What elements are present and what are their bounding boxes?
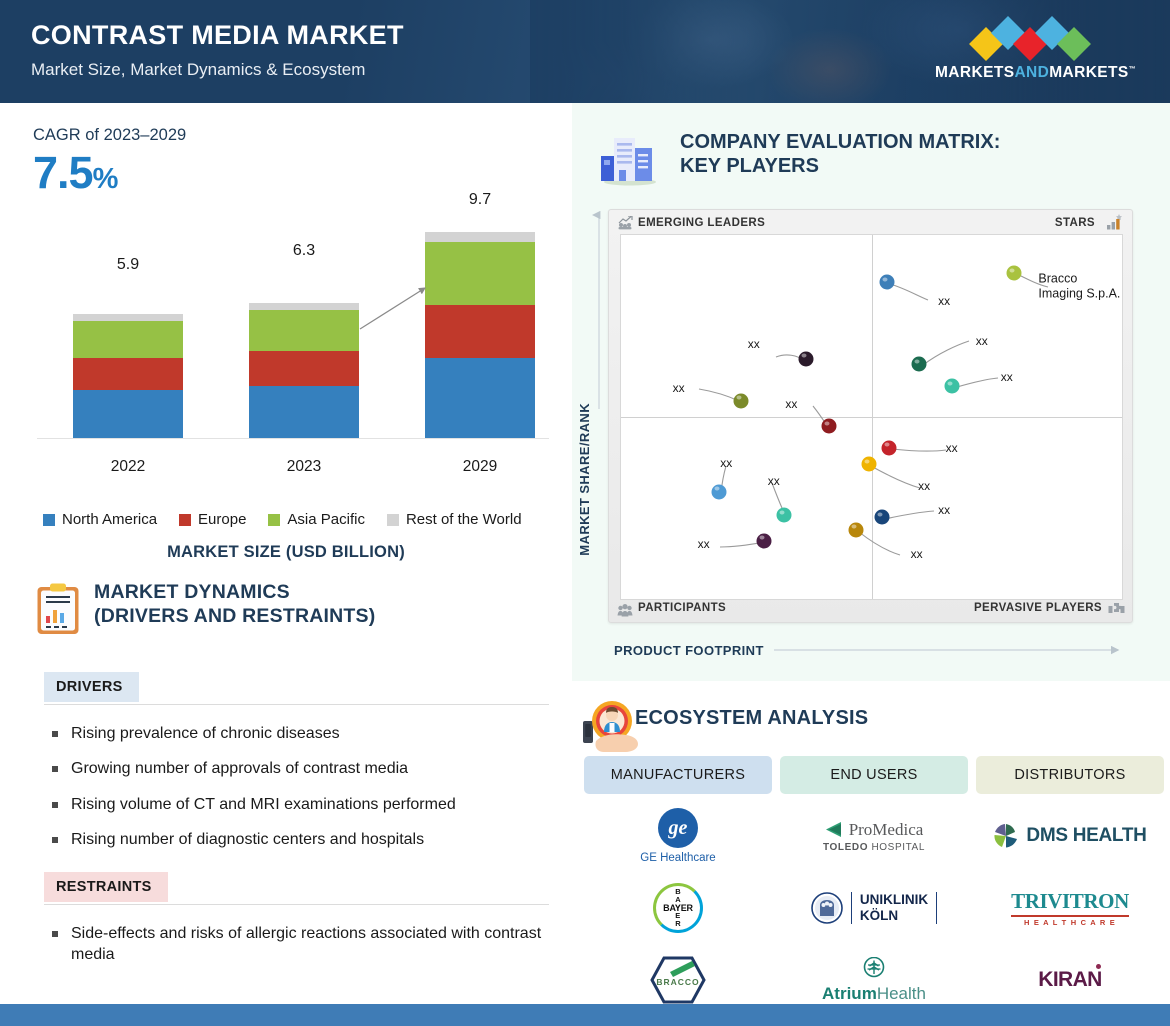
page-header: CONTRAST MEDIA MARKET Market Size, Marke… [0, 0, 1170, 103]
ecosystem-columns: MANUFACTURERS ge GE Healthcare BAYER BAY… [584, 756, 1164, 1008]
distributor-logos: DMS HEALTH TRIVITRON H E A L T H C A R E… [976, 808, 1164, 1008]
logo-word-markets-2: MARKETS [1049, 64, 1128, 81]
legend-swatch-north-america [43, 514, 55, 526]
bar-stack-2029 [425, 232, 535, 438]
driver-text: Growing number of approvals of contrast … [71, 758, 408, 779]
uniklinik-seal-icon [811, 892, 843, 924]
restraints-list: Side-effects and risks of allergic react… [52, 923, 562, 980]
matrix-title-line2: KEY PLAYERS [680, 154, 1000, 178]
kiran-dot-icon [1096, 964, 1101, 969]
uniklinik-line1: UNIKLINIK [860, 892, 928, 908]
matrix-point[interactable] [734, 393, 749, 408]
segment-europe [73, 358, 183, 390]
market-size-bar-chart: 5.9 2022 6.3 2023 9.7 2029 [33, 198, 553, 528]
promedica-toledo: TOLEDO [823, 842, 868, 853]
list-item: Growing number of approvals of contrast … [52, 758, 562, 779]
bar-total-2023: 6.3 [249, 242, 359, 260]
y-axis-arrow-icon [592, 211, 606, 411]
matrix-point[interactable] [944, 379, 959, 394]
bullet-square-icon [52, 802, 58, 808]
matrix-point[interactable] [776, 508, 791, 523]
x-axis-arrow-icon [772, 643, 1124, 657]
bayer-cross-mark: BAYER BAYER [656, 886, 700, 930]
atrium-word: Atrium [822, 984, 877, 1003]
matrix-point-label: xx [720, 456, 732, 470]
legend-label-north-america: North America [62, 511, 157, 528]
restraints-divider [44, 904, 549, 905]
bayer-horizontal-text: BAYER [656, 903, 700, 913]
matrix-point-label-bracco: BraccoImaging S.p.A. [1038, 271, 1120, 301]
matrix-point-label: xx [938, 503, 950, 517]
segment-asia-pacific [425, 242, 535, 305]
cagr-number: 7.5 [33, 147, 93, 198]
market-dynamics-header: MARKET DYNAMICS (DRIVERS AND RESTRAINTS) [36, 581, 375, 635]
trivitron-tagline: H E A L T H C A R E [1024, 918, 1116, 927]
column-header-distributors: DISTRIBUTORS [976, 756, 1164, 794]
matrix-point-label: xx [918, 479, 930, 493]
atrium-tree-icon [861, 957, 887, 981]
ecosystem-column-distributors: DISTRIBUTORS DMS HEALTH TRIVITRON [976, 756, 1164, 1008]
stars-bar-icon [1105, 214, 1123, 230]
matrix-point-bracco[interactable] [1007, 266, 1022, 281]
legend-item-north-america: North America [43, 511, 157, 528]
logo-diamonds-icon [974, 20, 1086, 54]
matrix-point[interactable] [756, 533, 771, 548]
segment-europe [425, 305, 535, 358]
clipboard-icon [36, 583, 80, 635]
buildings-icon [597, 126, 663, 186]
logo-wordmark: MARKETSANDMARKETS™ [935, 64, 1125, 82]
ge-healthcare-label: GE Healthcare [640, 852, 715, 864]
promedica-triangle-icon [825, 821, 843, 838]
footer-bar [0, 1004, 1170, 1026]
matrix-point[interactable] [879, 275, 894, 290]
restraint-text: Side-effects and risks of allergic react… [71, 923, 562, 966]
quadrant-label-stars: STARS [1055, 217, 1095, 229]
legend-label-asia-pacific: Asia Pacific [287, 511, 365, 528]
matrix-point[interactable] [861, 457, 876, 472]
matrix-point-label: xx [785, 397, 797, 411]
page-title: CONTRAST MEDIA MARKET [31, 20, 404, 51]
chart-legend: North America Europe Asia Pacific Rest o… [43, 511, 522, 528]
health-word: Health [877, 984, 926, 1003]
uniklinik-koeln-logo: UNIKLINIK KÖLN [811, 880, 937, 936]
promedica-wordmark: ProMedica [849, 820, 924, 840]
matrix-point-label: xx [1001, 370, 1013, 384]
list-item: Side-effects and risks of allergic react… [52, 923, 562, 966]
dms-health-logo: DMS HEALTH [993, 808, 1146, 864]
matrix-chart-card: EMERGING LEADERS STARS PARTICIPANTS PERV… [608, 209, 1133, 623]
atrium-health-logo: AtriumHealth [822, 952, 926, 1008]
cagr-value: 7.5% [33, 147, 117, 199]
bullet-square-icon [52, 837, 58, 843]
logo-trademark: ™ [1129, 66, 1136, 73]
bracco-hexagon-icon: BRACCO [650, 955, 706, 1005]
matrix-point[interactable] [849, 522, 864, 537]
trivitron-wordmark: TRIVITRON [1011, 889, 1129, 914]
legend-label-rest-of-world: Rest of the World [406, 511, 522, 528]
drivers-list: Rising prevalence of chronic diseases Gr… [52, 723, 562, 864]
drivers-tag: DRIVERS [44, 672, 139, 702]
ecosystem-column-manufacturers: MANUFACTURERS ge GE Healthcare BAYER BAY… [584, 756, 772, 1008]
logo-word-markets-1: MARKETS [935, 64, 1014, 81]
segment-north-america [249, 386, 359, 438]
segment-rest-of-world [425, 232, 535, 242]
dms-pinwheel-icon [993, 823, 1019, 849]
matrix-point-label: xx [748, 337, 760, 351]
promedica-hospital: HOSPITAL [871, 842, 925, 853]
matrix-point-label: xx [698, 537, 710, 551]
dms-wordmark: DMS HEALTH [1026, 825, 1146, 847]
left-column: CAGR of 2023–2029 7.5% 5.9 2022 6.3 2023… [0, 103, 572, 1004]
svg-text:BRACCO: BRACCO [656, 977, 699, 987]
cagr-percent-sign: % [93, 163, 118, 195]
bayer-ring-icon: BAYER BAYER [653, 883, 703, 933]
ge-healthcare-logo: ge GE Healthcare [640, 808, 715, 864]
matrix-point-label: xx [946, 441, 958, 455]
bar-category-2022: 2022 [73, 458, 183, 476]
matrix-plot-area: xx BraccoImaging S.p.A. xx xx xx xx xx x… [620, 234, 1123, 600]
segment-rest-of-world [73, 314, 183, 321]
cagr-label: CAGR of 2023–2029 [33, 126, 186, 145]
matrix-point[interactable] [874, 510, 889, 525]
bar-total-2029: 9.7 [425, 191, 535, 209]
bar-stack-2023 [249, 303, 359, 438]
puzzle-icon [1108, 602, 1125, 617]
matrix-point-label: xx [768, 474, 780, 488]
quadrant-label-participants: PARTICIPANTS [638, 602, 726, 614]
matrix-y-axis-label: MARKET SHARE/RANK [577, 403, 592, 556]
bullet-square-icon [52, 766, 58, 772]
restraints-tag: RESTRAINTS [44, 872, 168, 902]
segment-rest-of-world [249, 303, 359, 310]
matrix-point-label: xx [673, 381, 685, 395]
matrix-point[interactable] [882, 440, 897, 455]
trivitron-healthcare-logo: TRIVITRON H E A L T H C A R E [1011, 880, 1129, 936]
segment-asia-pacific [73, 321, 183, 358]
segment-europe [249, 351, 359, 386]
segment-asia-pacific [249, 310, 359, 351]
matrix-title: COMPANY EVALUATION MATRIX: KEY PLAYERS [680, 130, 1000, 179]
uniklinik-line2: KÖLN [860, 908, 928, 924]
ge-monogram-icon: ge [658, 808, 698, 848]
column-header-manufacturers: MANUFACTURERS [584, 756, 772, 794]
chart-baseline [37, 438, 549, 439]
legend-swatch-asia-pacific [268, 514, 280, 526]
kiran-logo: KIRAN [1038, 952, 1102, 1008]
ecosystem-analysis-panel: ECOSYSTEM ANALYSIS MANUFACTURERS ge GE H… [572, 681, 1170, 1004]
matrix-point-label: xx [938, 294, 950, 308]
bullet-square-icon [52, 931, 58, 937]
end-user-logos: ProMedica TOLEDO HOSPITAL [780, 808, 968, 1008]
driver-text: Rising volume of CT and MRI examinations… [71, 794, 456, 815]
ecosystem-title: ECOSYSTEM ANALYSIS [635, 707, 868, 730]
bayer-logo: BAYER BAYER [653, 880, 703, 936]
quadrant-label-emerging-leaders: EMERGING LEADERS [638, 217, 765, 229]
bar-stack-2022 [73, 314, 183, 438]
ecosystem-column-end-users: END USERS ProMedica TOLEDO HOSPITAL [780, 756, 968, 1008]
market-dynamics-title-line1: MARKET DYNAMICS [94, 581, 375, 605]
legend-item-rest-of-world: Rest of the World [387, 511, 522, 528]
bullet-square-icon [52, 731, 58, 737]
emerging-leaders-icon [617, 216, 633, 230]
marketsandmarkets-logo: MARKETSANDMARKETS™ [935, 20, 1125, 88]
logo-word-and: AND [1014, 64, 1049, 81]
list-item: Rising number of diagnostic centers and … [52, 829, 562, 850]
matrix-point[interactable] [711, 484, 726, 499]
matrix-title-line1: COMPANY EVALUATION MATRIX: [680, 130, 1000, 154]
bracco-logo: BRACCO [650, 952, 706, 1008]
bar-category-2029: 2029 [425, 458, 535, 476]
list-item: Rising volume of CT and MRI examinations… [52, 794, 562, 815]
column-header-end-users: END USERS [780, 756, 968, 794]
segment-north-america [425, 358, 535, 438]
company-evaluation-matrix-panel: COMPANY EVALUATION MATRIX: KEY PLAYERS M… [572, 103, 1170, 681]
legend-item-europe: Europe [179, 511, 246, 528]
chart-caption: MARKET SIZE (USD BILLION) [0, 543, 572, 562]
driver-text: Rising number of diagnostic centers and … [71, 829, 424, 850]
kiran-wordmark: KIRAN [1038, 968, 1102, 991]
matrix-x-axis-label: PRODUCT FOOTPRINT [614, 643, 764, 658]
legend-item-asia-pacific: Asia Pacific [268, 511, 365, 528]
legend-label-europe: Europe [198, 511, 246, 528]
matrix-point[interactable] [912, 357, 927, 372]
market-dynamics-title: MARKET DYNAMICS (DRIVERS AND RESTRAINTS) [94, 581, 375, 629]
quadrant-label-pervasive-players: PERVASIVE PLAYERS [974, 602, 1102, 614]
drivers-divider [44, 704, 549, 705]
matrix-point[interactable] [799, 351, 814, 366]
matrix-point-label: xx [911, 547, 923, 561]
driver-text: Rising prevalence of chronic diseases [71, 723, 340, 744]
manufacturer-logos: ge GE Healthcare BAYER BAYER [584, 808, 772, 1008]
market-dynamics-title-line2: (DRIVERS AND RESTRAINTS) [94, 605, 375, 629]
matrix-point-label: xx [976, 334, 988, 348]
segment-north-america [73, 390, 183, 438]
page-subtitle: Market Size, Market Dynamics & Ecosystem [31, 60, 365, 80]
bar-category-2023: 2023 [249, 458, 359, 476]
ge-mark: ge [669, 817, 688, 840]
matrix-point[interactable] [821, 419, 836, 434]
legend-swatch-europe [179, 514, 191, 526]
promedica-logo: ProMedica TOLEDO HOSPITAL [823, 808, 925, 864]
bar-total-2022: 5.9 [73, 256, 183, 274]
list-item: Rising prevalence of chronic diseases [52, 723, 562, 744]
participants-icon [617, 603, 633, 617]
legend-swatch-rest-of-world [387, 514, 399, 526]
